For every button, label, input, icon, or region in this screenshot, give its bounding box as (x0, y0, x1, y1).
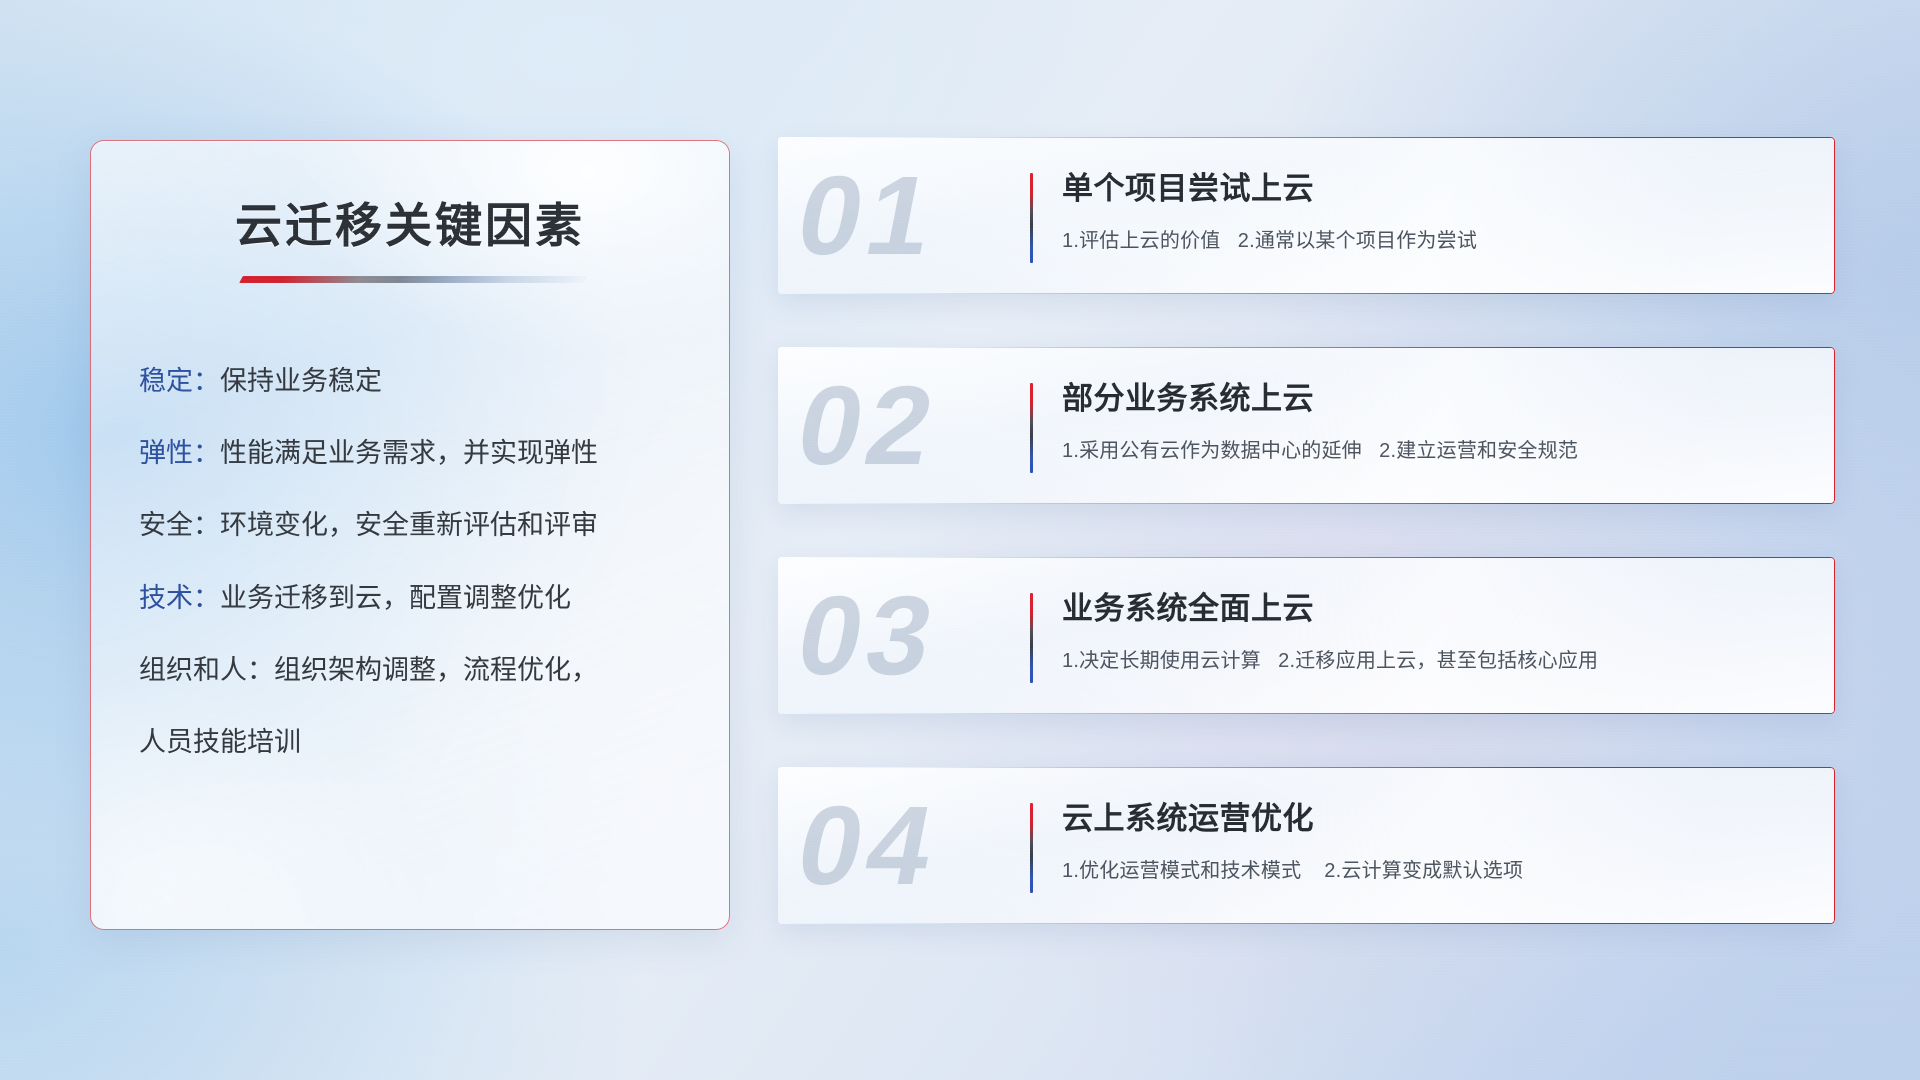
factor-row: 组织和人：组织架构调整，流程优化， (139, 652, 701, 688)
step-body: 业务系统全面上云 1.决定长期使用云计算 2.迁移应用上云，甚至包括核心应用 (1062, 583, 1811, 673)
step-description: 1.采用公有云作为数据中心的延伸 2.建立运营和安全规范 (1062, 434, 1811, 463)
step-number-watermark: 03 (786, 565, 1044, 707)
step-description: 1.决定长期使用云计算 2.迁移应用上云，甚至包括核心应用 (1062, 644, 1811, 673)
factor-row: 弹性：性能满足业务需求，并实现弹性 (139, 435, 701, 471)
step-card-02[interactable]: 02 部分业务系统上云 1.采用公有云作为数据中心的延伸 2.建立运营和安全规范 (778, 347, 1835, 504)
factor-row: 安全：环境变化，安全重新评估和评审 (139, 507, 701, 543)
factor-text: 保持业务稳定 (220, 366, 382, 396)
step-number-watermark: 02 (786, 355, 1044, 497)
factor-text: 性能满足业务需求，并实现弹性 (220, 438, 598, 468)
migration-steps-list: 01 单个项目尝试上云 1.评估上云的价值 2.通常以某个项目作为尝试 02 部… (778, 137, 1835, 924)
factor-label: 技术： (139, 583, 220, 613)
step-number-watermark: 01 (786, 145, 1044, 287)
step-card-03[interactable]: 03 业务系统全面上云 1.决定长期使用云计算 2.迁移应用上云，甚至包括核心应… (778, 557, 1835, 714)
step-body: 单个项目尝试上云 1.评估上云的价值 2.通常以某个项目作为尝试 (1062, 163, 1811, 253)
step-description: 1.优化运营模式和技术模式 2.云计算变成默认选项 (1062, 854, 1811, 883)
factor-label: 组织和人： (139, 655, 274, 685)
slide-canvas: 云迁移关键因素 稳定：保持业务稳定 弹性：性能满足业务需求，并实现弹性 安全：环… (0, 0, 1920, 1080)
factor-label: 弹性： (139, 438, 220, 468)
key-factors-panel: 云迁移关键因素 稳定：保持业务稳定 弹性：性能满足业务需求，并实现弹性 安全：环… (90, 140, 730, 930)
factor-text: 业务迁移到云，配置调整优化 (220, 583, 571, 613)
step-number-watermark: 04 (786, 775, 1044, 917)
factor-label: 稳定： (139, 366, 220, 396)
step-accent-divider (1030, 173, 1033, 263)
title-underline-accent (239, 276, 588, 283)
step-body: 部分业务系统上云 1.采用公有云作为数据中心的延伸 2.建立运营和安全规范 (1062, 373, 1811, 463)
step-accent-divider (1030, 803, 1033, 893)
step-accent-divider (1030, 593, 1033, 683)
step-title: 部分业务系统上云 (1062, 373, 1811, 418)
factor-row: 技术：业务迁移到云，配置调整优化 (139, 580, 701, 616)
step-card-01[interactable]: 01 单个项目尝试上云 1.评估上云的价值 2.通常以某个项目作为尝试 (778, 137, 1835, 294)
step-title: 云上系统运营优化 (1062, 793, 1811, 838)
factor-row: 稳定：保持业务稳定 (139, 363, 701, 399)
factor-text: 环境变化，安全重新评估和评审 (220, 510, 598, 540)
step-title: 业务系统全面上云 (1062, 583, 1811, 628)
step-title: 单个项目尝试上云 (1062, 163, 1811, 208)
factor-row-continuation: 人员技能培训 (139, 724, 701, 760)
factor-text: 人员技能培训 (139, 727, 301, 757)
factor-label: 安全： (139, 510, 220, 540)
step-body: 云上系统运营优化 1.优化运营模式和技术模式 2.云计算变成默认选项 (1062, 793, 1811, 883)
factor-list: 稳定：保持业务稳定 弹性：性能满足业务需求，并实现弹性 安全：环境变化，安全重新… (139, 363, 701, 760)
step-card-04[interactable]: 04 云上系统运营优化 1.优化运营模式和技术模式 2.云计算变成默认选项 (778, 767, 1835, 924)
step-accent-divider (1030, 383, 1033, 473)
page-title: 云迁移关键因素 (91, 187, 729, 256)
step-description: 1.评估上云的价值 2.通常以某个项目作为尝试 (1062, 224, 1811, 253)
factor-text: 组织架构调整，流程优化， (274, 655, 598, 685)
